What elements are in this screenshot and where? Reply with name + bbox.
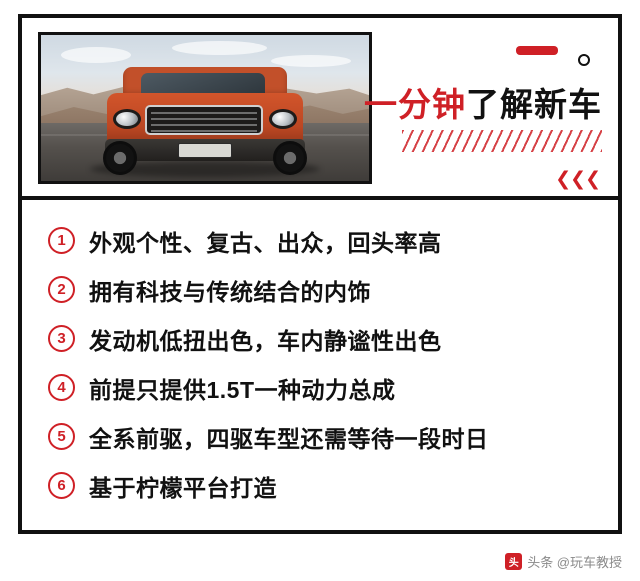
headline-accent: 一分钟 <box>364 86 466 123</box>
headlamp-left-icon <box>113 109 141 129</box>
headline-rest: 了解新车 <box>466 86 602 123</box>
cloud-icon <box>61 47 131 63</box>
list-item-label: 发动机低扭出色，车内静谧性出色 <box>89 322 442 356</box>
wheel-left <box>103 141 137 175</box>
list-item-number: 4 <box>48 374 75 401</box>
list-item-label: 全系前驱，四驱车型还需等待一段时日 <box>89 420 489 454</box>
list-item: 3 发动机低扭出色，车内静谧性出色 <box>48 314 596 363</box>
decor-circle-icon <box>578 54 590 66</box>
decor-chevrons-icon: ❮❮❮ <box>555 168 600 191</box>
list-item-label: 基于柠檬平台打造 <box>89 469 277 503</box>
list-item: 6 基于柠檬平台打造 <box>48 461 596 510</box>
list-item-number: 3 <box>48 325 75 352</box>
headlamp-right-icon <box>269 109 297 129</box>
list-item: 2 拥有科技与传统结合的内饰 <box>48 265 596 314</box>
list-item-number: 2 <box>48 276 75 303</box>
poster-header: 一分钟了解新车 ❮❮❮ <box>22 18 618 200</box>
list-item-number: 1 <box>48 227 75 254</box>
list-item: 4 前提只提供1.5T一种动力总成 <box>48 363 596 412</box>
wheel-right <box>273 141 307 175</box>
suv-vehicle <box>101 67 309 171</box>
feature-list: 1 外观个性、复古、出众，回头率高 2 拥有科技与传统结合的内饰 3 发动机低扭… <box>22 200 618 530</box>
poster-card: 一分钟了解新车 ❮❮❮ 1 外观个性、复古、出众，回头率高 2 拥有科技与传统结… <box>18 14 622 534</box>
list-item-label: 拥有科技与传统结合的内饰 <box>89 273 371 307</box>
list-item: 5 全系前驱，四驱车型还需等待一段时日 <box>48 412 596 461</box>
suv-front-three-quarter-photo <box>38 32 372 184</box>
toutiao-logo-icon: 头 <box>505 553 522 570</box>
list-item: 1 外观个性、复古、出众，回头率高 <box>48 216 596 265</box>
watermark-text: 头条 @玩车教授 <box>527 552 622 571</box>
page-title: 一分钟了解新车 <box>364 78 602 126</box>
list-item-number: 6 <box>48 472 75 499</box>
watermark: 头 头条 @玩车教授 <box>505 552 622 571</box>
decor-hatch-lines <box>402 130 602 152</box>
cloud-icon <box>172 41 267 55</box>
list-item-number: 5 <box>48 423 75 450</box>
list-item-label: 外观个性、复古、出众，回头率高 <box>89 224 442 258</box>
license-plate <box>178 143 232 158</box>
decor-dash-icon <box>516 46 558 55</box>
front-grille <box>145 105 263 135</box>
list-item-label: 前提只提供1.5T一种动力总成 <box>89 371 396 405</box>
